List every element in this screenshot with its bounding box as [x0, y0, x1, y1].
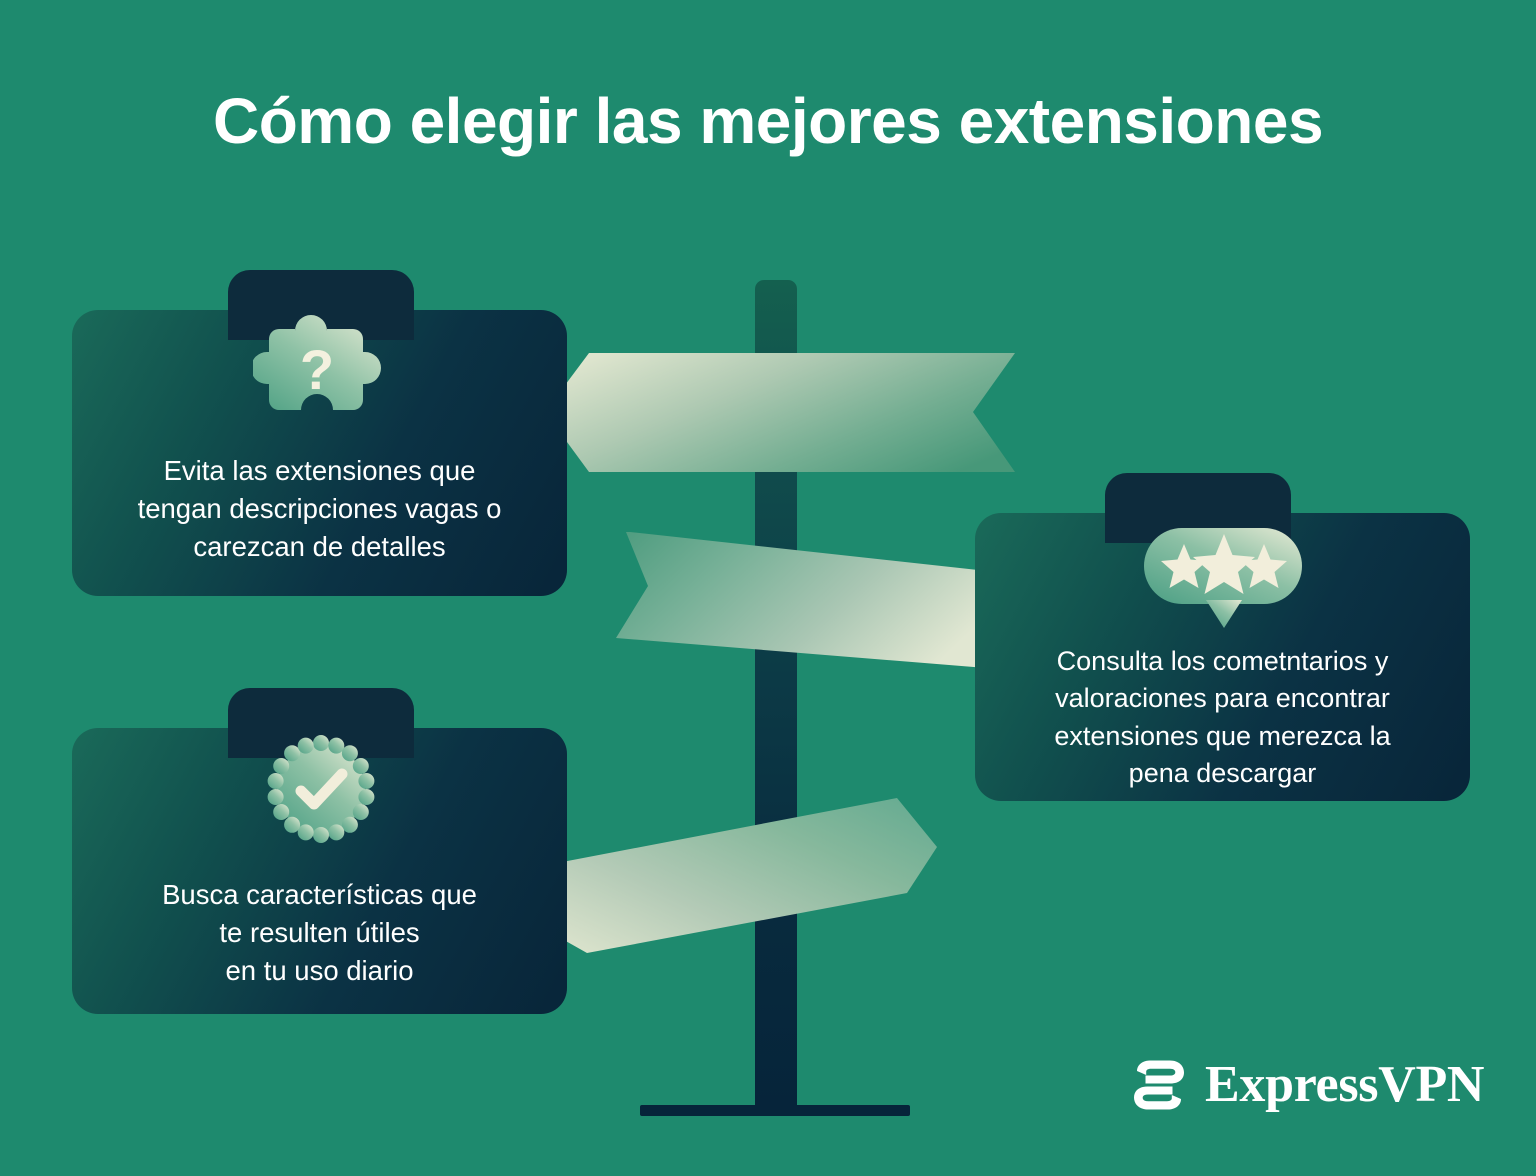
- expressvpn-logo: ExpressVPN: [1127, 1053, 1484, 1117]
- arrow-top-left: [545, 350, 1015, 475]
- arrow-middle-right: [608, 520, 1033, 670]
- card-features-text: Busca características que te resulten út…: [72, 876, 567, 990]
- infographic-canvas: Cómo elegir las mejores extensiones: [0, 0, 1536, 1176]
- card-reviews-text: Consulta los cometntarios y valoraciones…: [975, 643, 1470, 792]
- star-rating-bubble-icon: [1140, 522, 1310, 630]
- svg-text:?: ?: [300, 338, 334, 401]
- page-title: Cómo elegir las mejores extensiones: [0, 86, 1536, 156]
- expressvpn-e-mark-icon: [1127, 1053, 1191, 1117]
- card-avoid-text: Evita las extensiones que tengan descrip…: [72, 452, 567, 566]
- expressvpn-wordmark: ExpressVPN: [1205, 1059, 1484, 1111]
- arrow-bottom-left: [525, 765, 945, 975]
- signpost-base: [640, 1105, 910, 1116]
- puzzle-question-icon: ?: [253, 312, 383, 427]
- verified-check-badge-icon: [262, 730, 380, 848]
